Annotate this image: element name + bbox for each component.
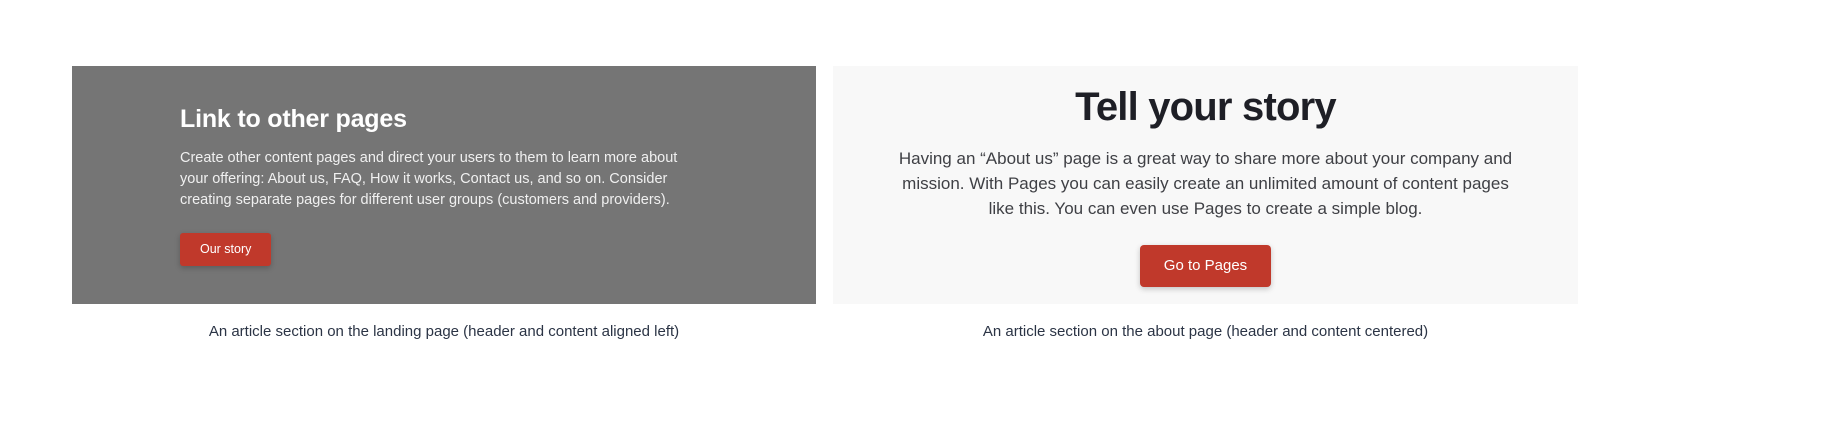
article-section-preview-about: Tell your story Having an “About us” pag… [833,66,1578,304]
article-body-text: Create other content pages and direct yo… [180,148,708,211]
article-heading: Tell your story [1075,84,1336,130]
figure-caption: An article section on the about page (he… [833,304,1578,342]
our-story-button[interactable]: Our story [180,233,271,266]
figure-landing-page-article: Link to other pages Create other content… [72,66,816,342]
go-to-pages-button[interactable]: Go to Pages [1140,245,1271,287]
figure-about-page-article: Tell your story Having an “About us” pag… [833,66,1578,342]
comparison-board: Link to other pages Create other content… [0,0,1846,430]
figure-caption: An article section on the landing page (… [72,304,816,342]
article-body-text: Having an “About us” page is a great way… [891,146,1520,221]
article-section-preview-landing: Link to other pages Create other content… [72,66,816,304]
article-heading: Link to other pages [180,104,407,134]
